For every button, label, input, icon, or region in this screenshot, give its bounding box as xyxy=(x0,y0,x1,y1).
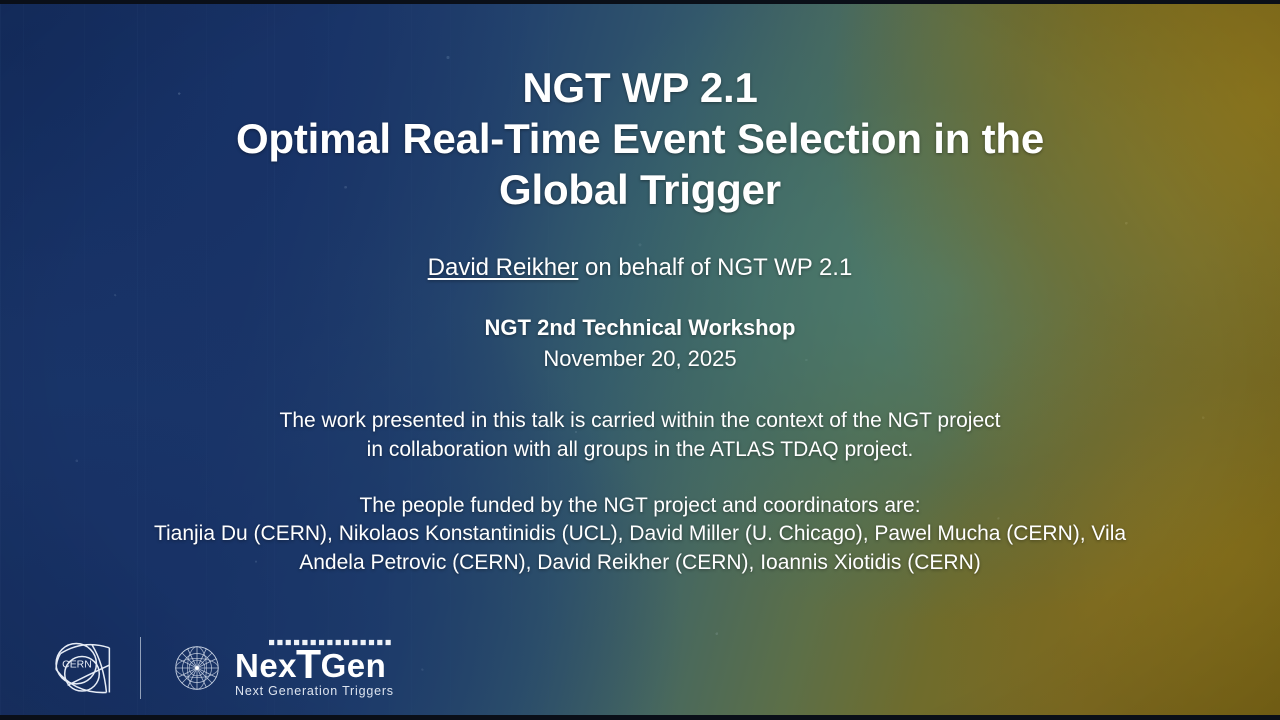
slide-content: NGT WP 2.1 Optimal Real-Time Event Selec… xyxy=(0,0,1280,720)
presenter-name: David Reikher xyxy=(428,254,579,281)
cern-logo-text: CERN xyxy=(62,659,92,670)
workshop-name: NGT 2nd Technical Workshop xyxy=(485,315,796,341)
nextgen-word-part1: Nex xyxy=(235,649,297,682)
funding-names-line-2: Andela Petrovic (CERN), David Reikher (C… xyxy=(73,548,1208,577)
letterbox-top-edge xyxy=(0,0,1280,4)
title-line-2: Optimal Real-Time Event Selection in the xyxy=(80,113,1200,164)
context-line-1: The work presented in this talk is carri… xyxy=(140,406,1140,435)
title-line-3: Global Trigger xyxy=(80,164,1200,215)
context-line-2: in collaboration with all groups in the … xyxy=(140,435,1140,464)
workshop-date: November 20, 2025 xyxy=(543,346,736,372)
nextgen-logo: NexTGen Next Generation Triggers xyxy=(169,639,394,698)
nextgen-dashes-icon xyxy=(269,639,394,646)
funding-names-line-1: Tianjia Du (CERN), Nikolaos Konstantinid… xyxy=(73,519,1208,548)
funding-heading: The people funded by the NGT project and… xyxy=(359,494,920,518)
nextgen-word-big-t: T xyxy=(296,648,322,681)
presenter-line: David Reikher on behalf of NGT WP 2.1 xyxy=(428,254,853,282)
nextgen-emblem-icon xyxy=(169,640,225,696)
context-paragraph: The work presented in this talk is carri… xyxy=(140,406,1140,464)
funding-names: Tianjia Du (CERN), Nikolaos Konstantinid… xyxy=(73,519,1208,577)
letterbox-bottom-edge xyxy=(0,715,1280,720)
slide-title: NGT WP 2.1 Optimal Real-Time Event Selec… xyxy=(80,62,1200,215)
nextgen-word-part2: Gen xyxy=(321,649,387,682)
cern-logo-icon: CERN xyxy=(46,632,118,704)
nextgen-word: NexTGen xyxy=(235,647,394,682)
title-line-1: NGT WP 2.1 xyxy=(80,62,1200,113)
nextgen-wordmark: NexTGen Next Generation Triggers xyxy=(235,639,394,698)
presenter-affiliation: on behalf of NGT WP 2.1 xyxy=(578,254,852,281)
logo-divider xyxy=(140,637,141,699)
logo-bar: CERN xyxy=(46,632,394,704)
presentation-slide: NGT WP 2.1 Optimal Real-Time Event Selec… xyxy=(0,0,1280,720)
